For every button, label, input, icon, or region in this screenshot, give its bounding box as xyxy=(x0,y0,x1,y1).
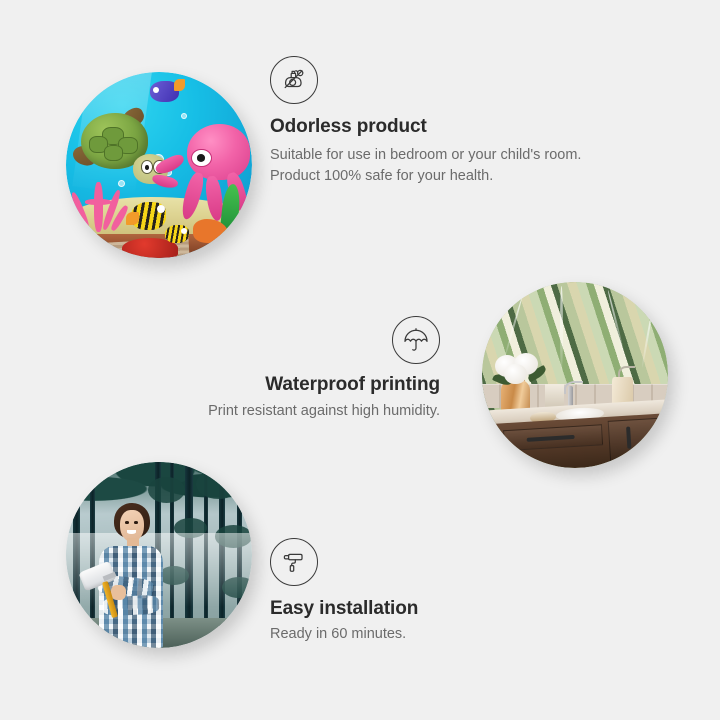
feature-title: Waterproof printing xyxy=(208,374,440,396)
blue-fish-tail xyxy=(174,79,185,90)
feature-install: Easy installation Ready in 60 minutes. xyxy=(270,538,418,645)
feature-waterproof: Waterproof printing Print resistant agai… xyxy=(208,316,440,422)
feature-description: Ready in 60 minutes. xyxy=(270,624,418,645)
turtle-pupil xyxy=(145,165,150,170)
no-odor-perfume-bottle-icon xyxy=(270,56,318,104)
feature-title: Easy installation xyxy=(270,598,418,620)
feature-description: Suitable for use in bedroom or your chil… xyxy=(270,145,600,187)
octopus-eye xyxy=(191,149,212,168)
woman-hand xyxy=(111,585,126,600)
feature-highlights-page: Odorless product Suitable for use in bed… xyxy=(0,0,720,720)
feature-description: Print resistant against high humidity. xyxy=(208,401,440,422)
umbrella-icon xyxy=(392,316,440,364)
woman-with-paint-roller-forest-photo xyxy=(66,462,252,648)
underwater-cartoon-mural-photo xyxy=(66,72,252,258)
fish-tail xyxy=(126,212,139,225)
feature-title: Odorless product xyxy=(270,116,600,138)
shell-plate xyxy=(104,145,123,160)
feature-odorless: Odorless product Suitable for use in bed… xyxy=(270,56,600,187)
octopus-pupil xyxy=(197,154,206,162)
bathroom-tropical-wallpaper-photo xyxy=(482,282,668,468)
white-flower xyxy=(504,364,526,384)
faucet-arc xyxy=(564,381,583,394)
woman-face xyxy=(120,510,144,542)
pink-coral xyxy=(72,182,128,232)
turtle-eye xyxy=(141,160,154,174)
paint-roller-icon xyxy=(270,538,318,586)
